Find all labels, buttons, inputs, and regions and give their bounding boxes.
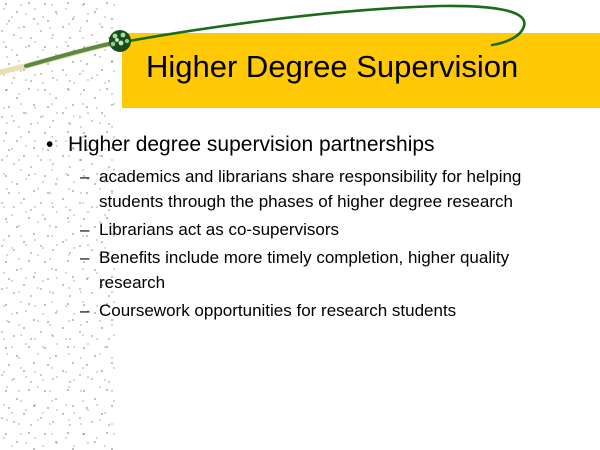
bullet-marker-dash-icon: – [80,164,99,189]
bullet-text: Benefits include more timely completion,… [99,245,530,295]
bullet-item-level2: – Benefits include more timely completio… [0,245,600,295]
bullet-item-level2: – Librarians act as co-supervisors [0,217,600,242]
bullet-item-level2: – academics and librarians share respons… [0,164,600,214]
bullet-marker-dot-icon: • [46,132,68,158]
bullet-text: Coursework opportunities for research st… [99,298,530,323]
bullet-text: academics and librarians share responsib… [99,164,530,214]
page-title: Higher Degree Supervision [146,49,586,85]
bullet-item-level2: – Coursework opportunities for research … [0,298,600,323]
bullet-text: Librarians act as co-supervisors [99,217,530,242]
bullet-marker-dash-icon: – [80,298,99,323]
slide-body-content: • Higher degree supervision partnerships… [0,132,600,326]
presentation-slide: Higher Degree Supervision • Higher degre… [0,0,600,450]
bullet-item-level1: • Higher degree supervision partnerships [0,132,600,158]
bullet-marker-dash-icon: – [80,245,99,270]
bullet-marker-dash-icon: – [80,217,99,242]
bullet-text: Higher degree supervision partnerships [68,132,600,158]
